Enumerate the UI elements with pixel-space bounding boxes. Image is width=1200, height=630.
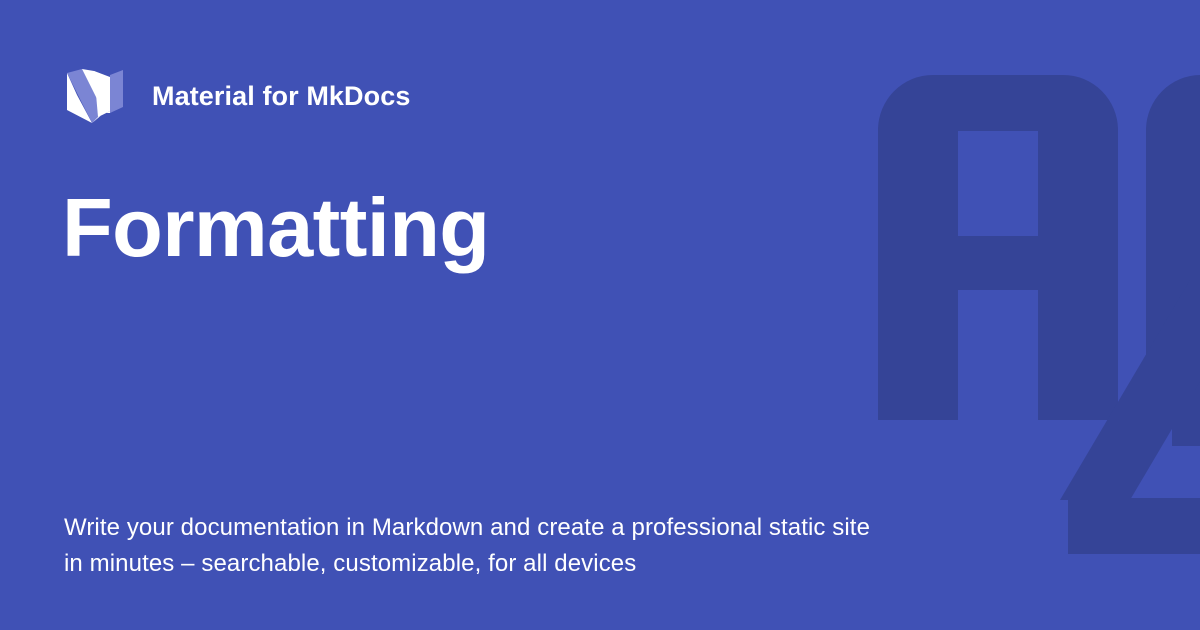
tagline: Write your documentation in Markdown and… [64, 510, 894, 582]
watermark-italic-a-final [1060, 280, 1200, 560]
tagline-line-2: in minutes – searchable, customizable, f… [64, 546, 894, 582]
site-title: Material for MkDocs [152, 83, 410, 110]
social-card: Material for MkDocs Formatting Write you… [0, 0, 1200, 630]
page-title: Formatting [62, 186, 862, 269]
material-mkdocs-logo-icon [64, 65, 126, 127]
header: Material for MkDocs [64, 62, 410, 130]
watermark-letter-a-shape [878, 75, 1118, 420]
watermark-letter-a-italic [1000, 296, 1200, 556]
tagline-line-1: Write your documentation in Markdown and… [64, 510, 894, 546]
